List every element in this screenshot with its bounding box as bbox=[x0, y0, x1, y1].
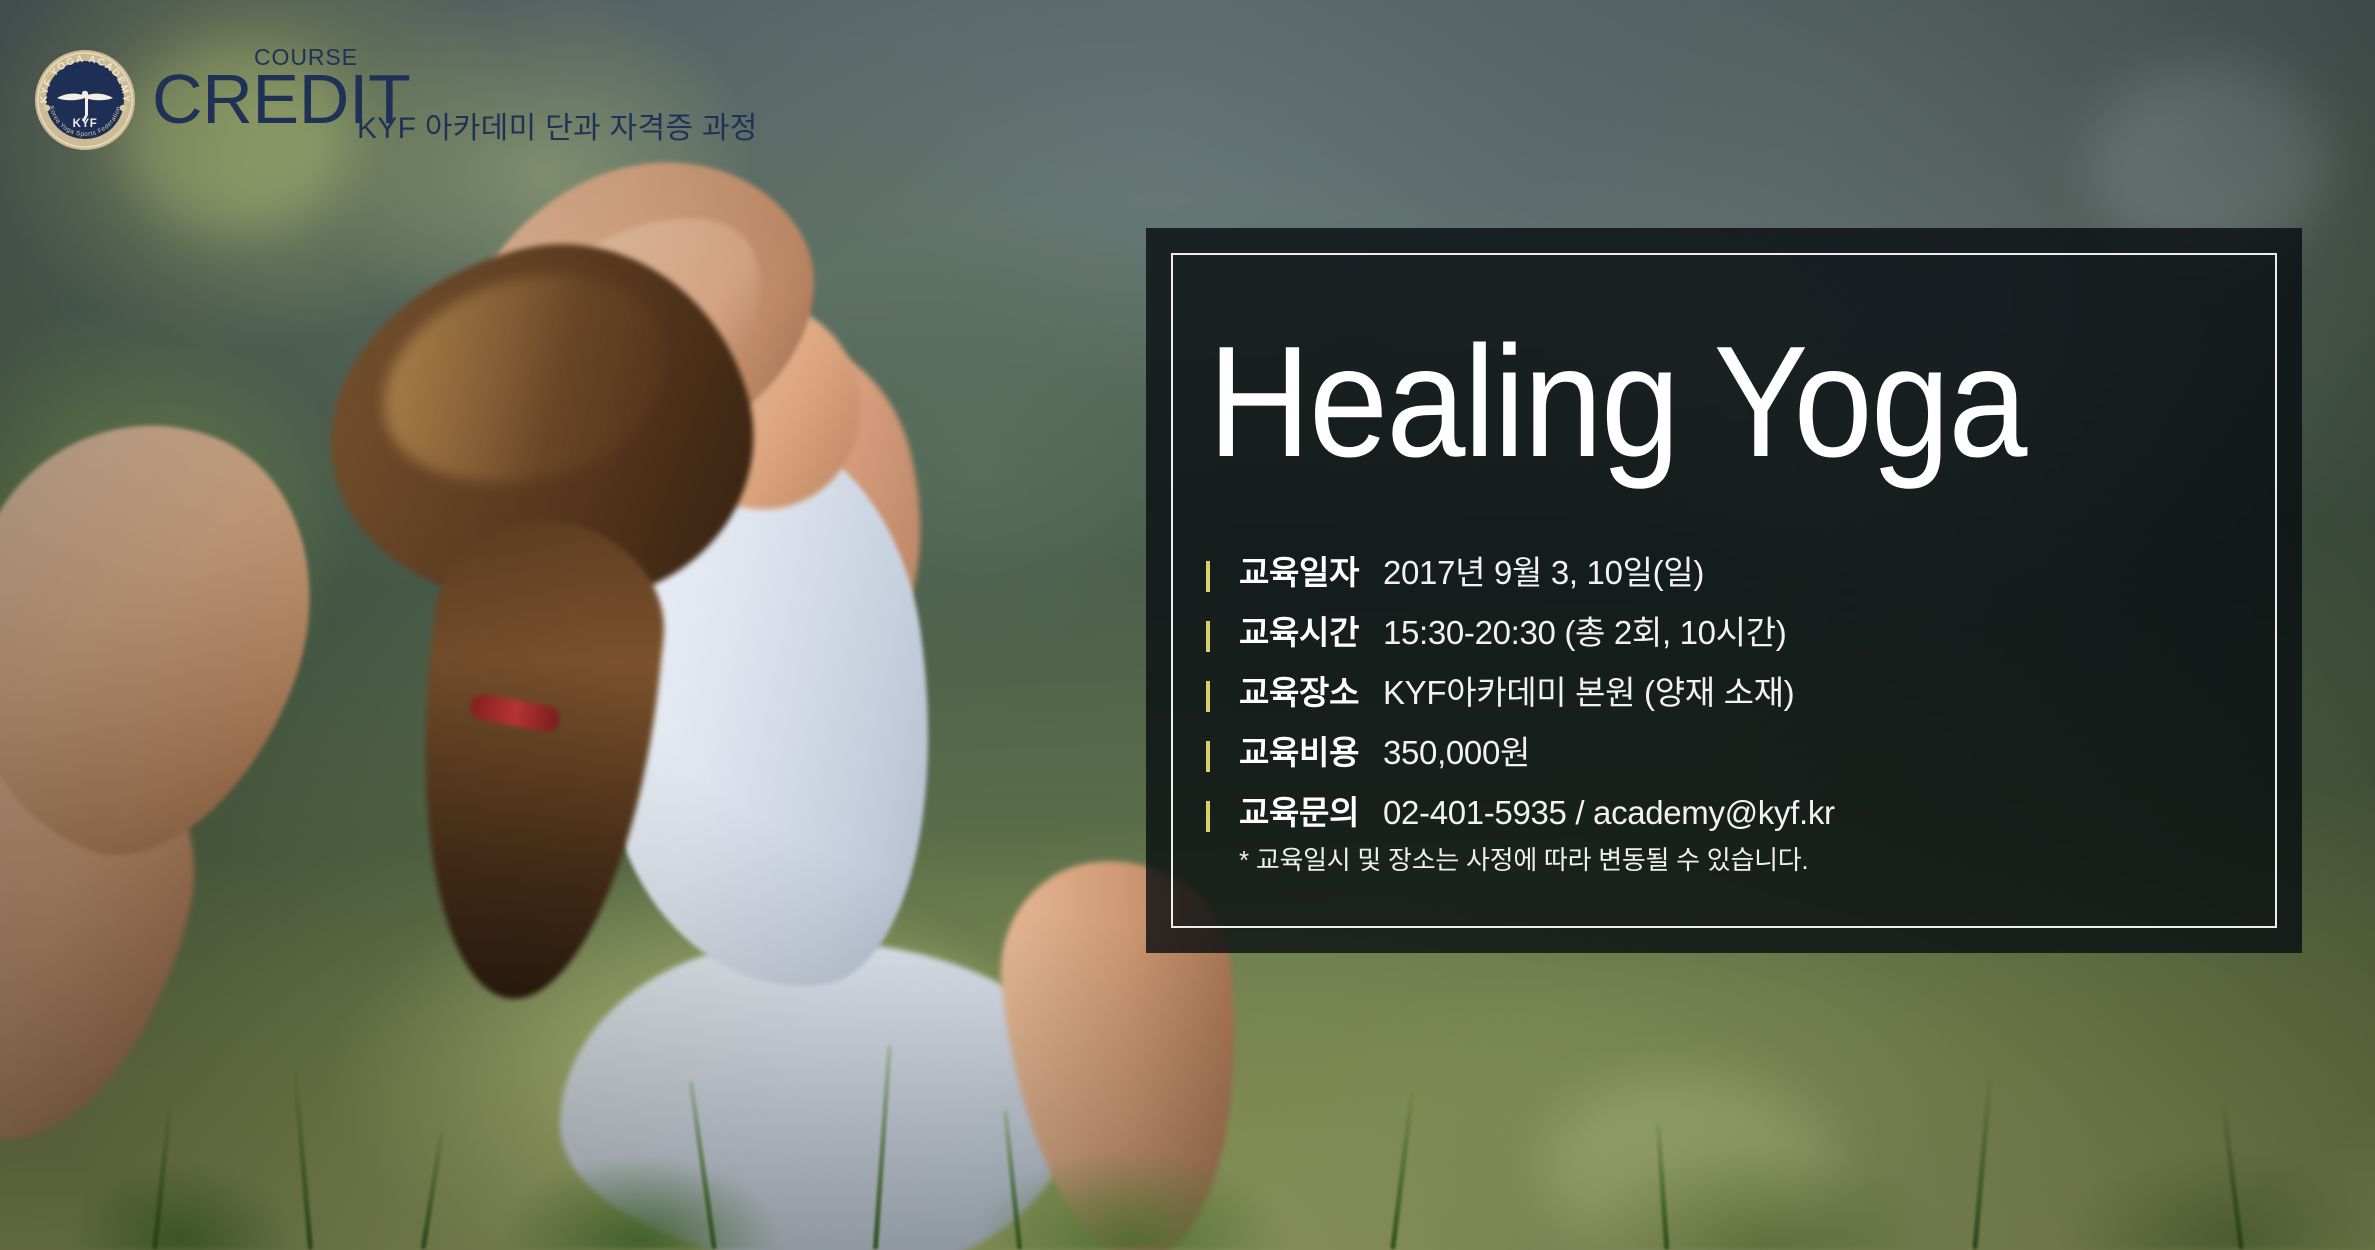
course-title: Healing Yoga bbox=[1208, 323, 2026, 481]
svg-text:KYF: KYF bbox=[73, 118, 98, 130]
detail-value: 2017년 9월 3, 10일(일) bbox=[1383, 546, 1704, 594]
detail-value: 15:30-20:30 (총 2회, 10시간) bbox=[1383, 606, 1786, 654]
kyf-academy-logo: KYF YOGA ACADEMY Korea Yoga Sports Feder… bbox=[33, 48, 137, 152]
detail-row-date: 교육일자 2017년 9월 3, 10일(일) bbox=[1206, 546, 2226, 606]
header-tagline: KYF 아카데미 단과 자격증 과정 bbox=[357, 103, 758, 147]
bullet-tick-icon bbox=[1206, 561, 1210, 592]
yoga-course-banner: KYF YOGA ACADEMY Korea Yoga Sports Feder… bbox=[0, 0, 2375, 1250]
detail-label: 교육시간 bbox=[1239, 606, 1365, 654]
detail-label: 교육장소 bbox=[1239, 666, 1365, 714]
detail-row-time: 교육시간 15:30-20:30 (총 2회, 10시간) bbox=[1206, 606, 2226, 666]
detail-label: 교육문의 bbox=[1239, 786, 1365, 834]
bullet-tick-icon bbox=[1206, 681, 1210, 712]
detail-value: 350,000원 bbox=[1383, 726, 1530, 774]
detail-row-location: 교육장소 KYF아카데미 본원 (양재 소재) bbox=[1206, 666, 2226, 726]
detail-row-fee: 교육비용 350,000원 bbox=[1206, 726, 2226, 786]
bullet-tick-icon bbox=[1206, 801, 1210, 832]
course-info-panel: Healing Yoga 교육일자 2017년 9월 3, 10일(일) 교육시… bbox=[1146, 228, 2302, 953]
course-detail-list: 교육일자 2017년 9월 3, 10일(일) 교육시간 15:30-20:30… bbox=[1206, 546, 2226, 846]
bullet-tick-icon bbox=[1206, 621, 1210, 652]
detail-value: KYF아카데미 본원 (양재 소재) bbox=[1383, 666, 1794, 714]
detail-label: 교육비용 bbox=[1239, 726, 1365, 774]
bullet-tick-icon bbox=[1206, 741, 1210, 772]
detail-label: 교육일자 bbox=[1239, 546, 1365, 594]
detail-row-contact: 교육문의 02-401-5935 / academy@kyf.kr bbox=[1206, 786, 2226, 846]
course-disclaimer-note: * 교육일시 및 장소는 사정에 따라 변동될 수 있습니다. bbox=[1239, 840, 1808, 877]
detail-value: 02-401-5935 / academy@kyf.kr bbox=[1383, 794, 1835, 832]
